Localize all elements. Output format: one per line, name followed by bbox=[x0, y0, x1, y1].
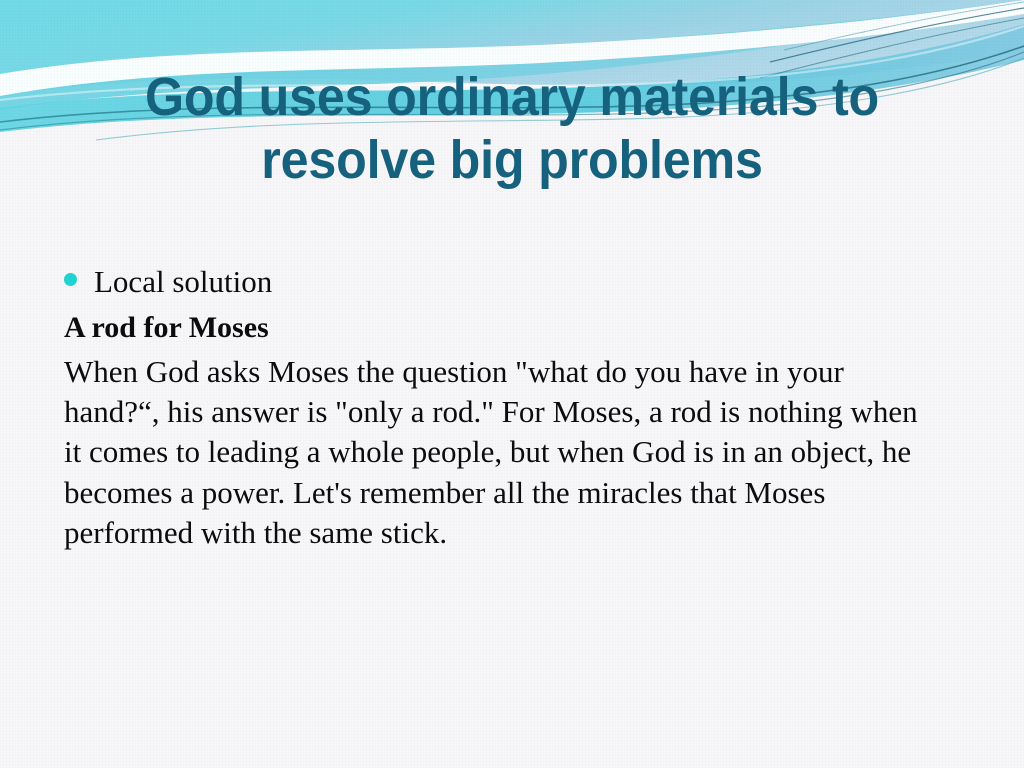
list-item: Local solution bbox=[64, 262, 952, 302]
page-title: God uses ordinary materials to resolve b… bbox=[92, 66, 933, 192]
body-paragraph: When God asks Moses the question "what d… bbox=[64, 352, 939, 553]
sub-heading: A rod for Moses bbox=[64, 308, 952, 348]
slide-body: Local solution A rod for Moses When God … bbox=[64, 262, 952, 553]
slide-canvas: God uses ordinary materials to resolve b… bbox=[0, 0, 1024, 768]
bullet-item-label: Local solution bbox=[94, 262, 272, 302]
slide-title-block: God uses ordinary materials to resolve b… bbox=[60, 66, 964, 192]
dot-bullet-icon bbox=[64, 273, 77, 286]
